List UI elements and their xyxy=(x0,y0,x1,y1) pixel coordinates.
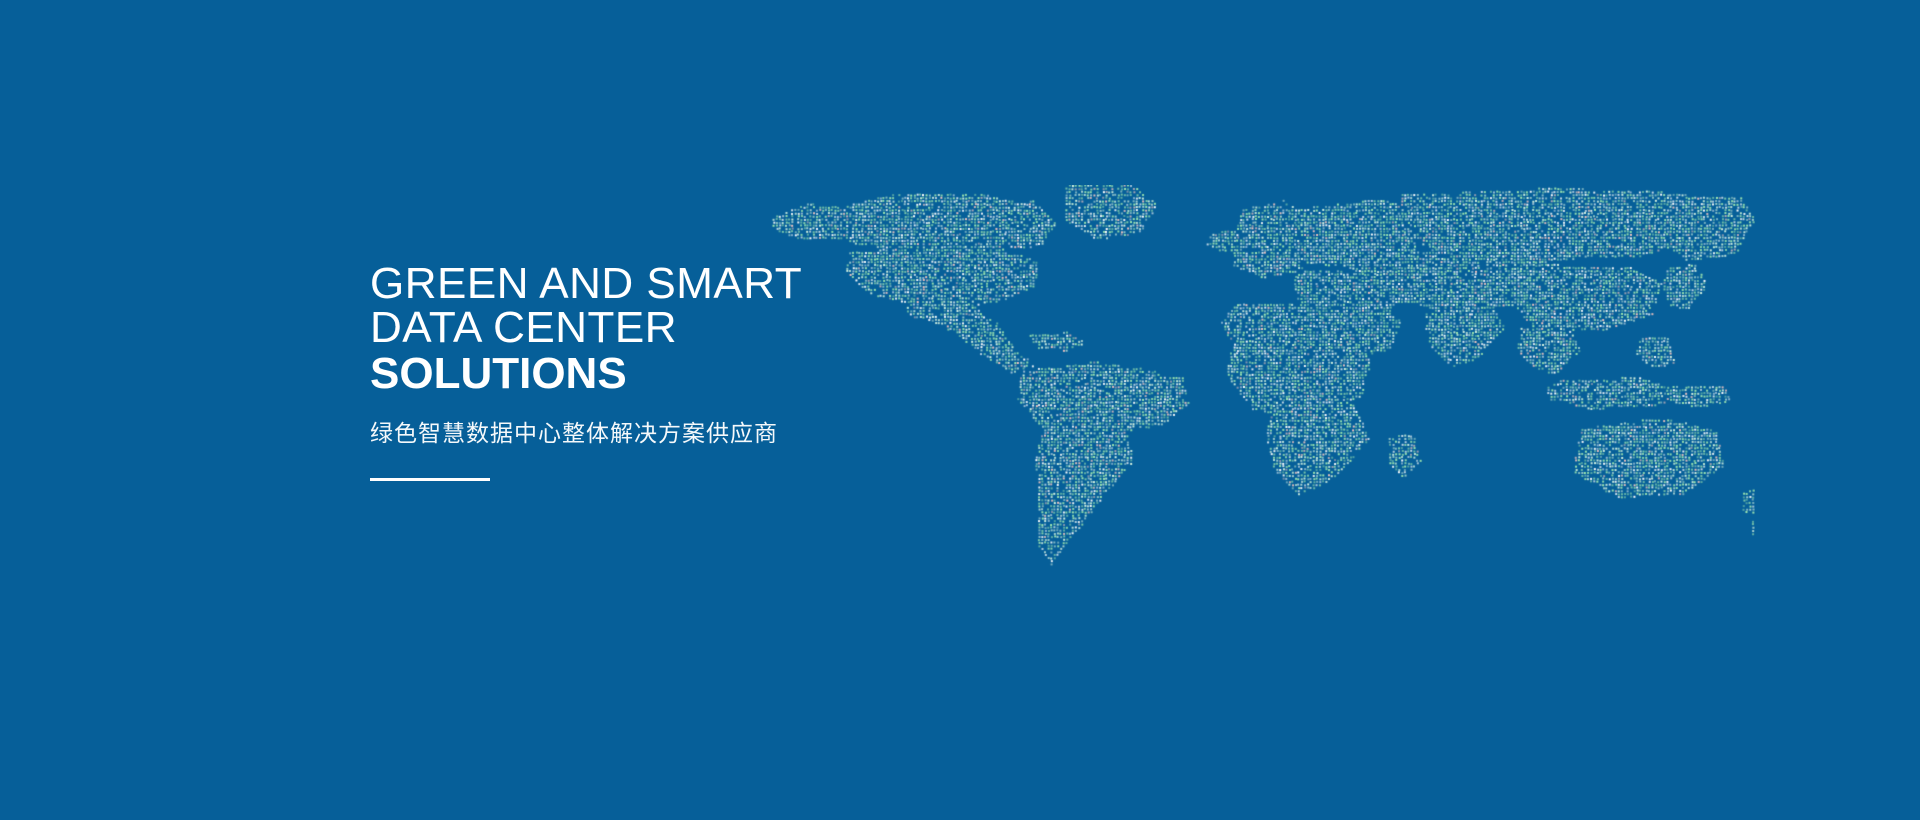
hero-text-block: GREEN AND SMART DATA CENTER SOLUTIONS 绿色… xyxy=(370,262,890,481)
headline-line-1: GREEN AND SMART xyxy=(370,262,890,306)
headline-line-3: SOLUTIONS xyxy=(370,352,890,396)
subtitle-chinese: 绿色智慧数据中心整体解决方案供应商 xyxy=(370,418,890,448)
headline-line-2: DATA CENTER xyxy=(370,306,890,350)
divider-rule xyxy=(370,478,490,481)
world-map-canvas xyxy=(770,185,1755,615)
hero-banner: GREEN AND SMART DATA CENTER SOLUTIONS 绿色… xyxy=(0,0,1920,820)
dotted-world-map xyxy=(770,185,1755,615)
